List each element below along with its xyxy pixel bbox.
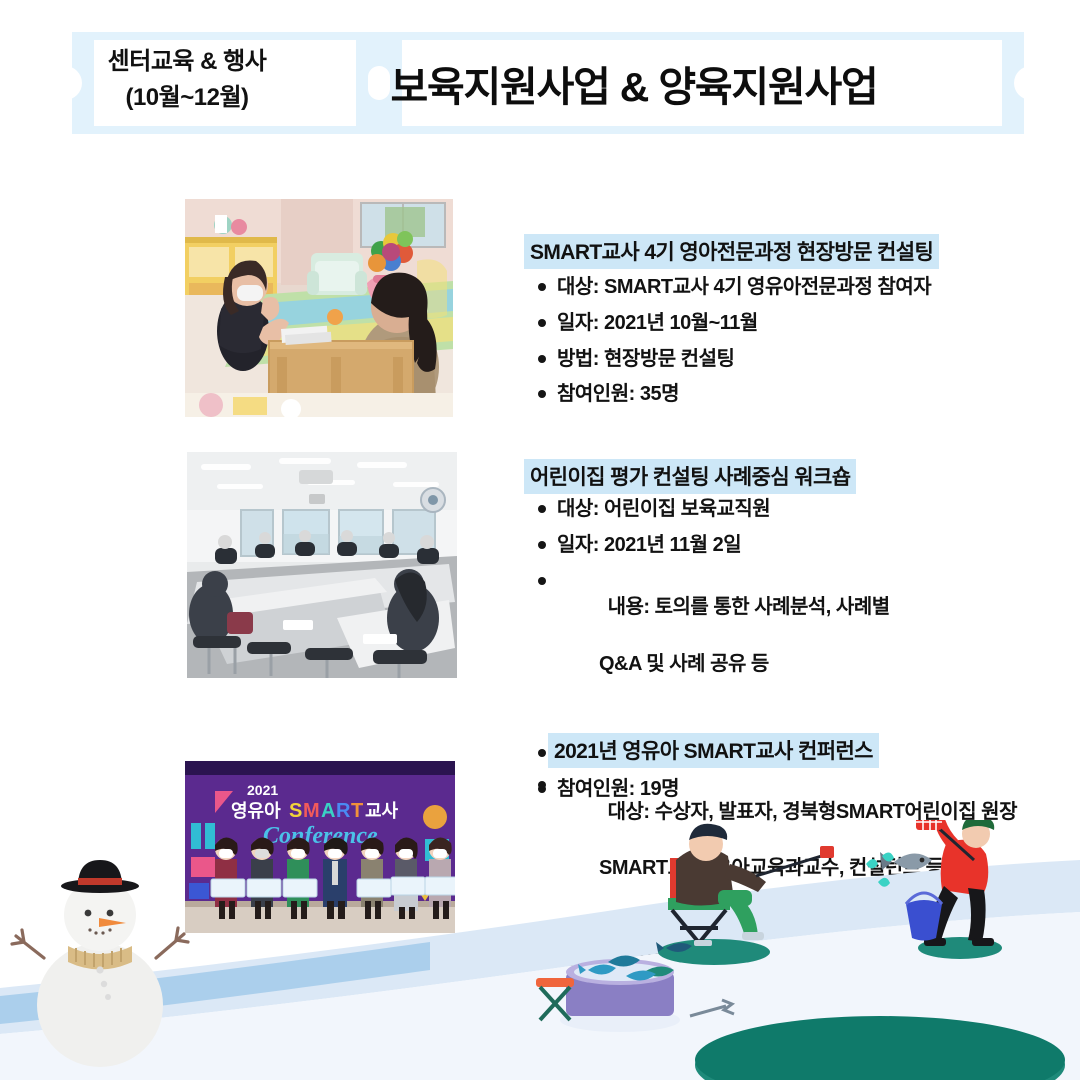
svg-text:S: S xyxy=(289,800,302,822)
bullet-item: 대상: 수상자, 발표자, 경북형SMART어린이집 원장 SMART교사, 유… xyxy=(538,772,978,936)
bullet-dot-icon xyxy=(538,577,546,585)
bullet-dot-icon xyxy=(538,1025,546,1033)
bullet-item: 방법: 대면 및 비대면 xyxy=(538,981,978,1008)
section-photo-1 xyxy=(185,199,453,417)
snowman-button xyxy=(96,966,103,973)
header-tab-text: 센터교육 & 행사 (10월~12월) xyxy=(62,44,312,116)
bullet-label: 방법: 현장방문 컨설팅 xyxy=(557,346,734,373)
bullet-label: 내용: 토의를 통한 사례분석, 사례별 Q&A 및 사례 공유 등 xyxy=(557,568,890,732)
svg-text:A: A xyxy=(321,800,335,822)
page-title: 보육지원사업 & 양육지원사업 xyxy=(340,53,928,113)
bullet-dot-icon xyxy=(538,954,546,962)
header-tab-line2: (10월~12월) xyxy=(62,80,312,116)
photo-2-illustration xyxy=(187,452,457,678)
bullet-label: 방법: 대면 및 비대면 xyxy=(557,981,722,1008)
bullet-dot-icon xyxy=(538,355,546,363)
header-tab-line1: 센터교육 & 행사 xyxy=(108,48,267,75)
svg-text:Conference: Conference xyxy=(263,823,378,849)
section-title-3: 2021년 영유아 SMART교사 컨퍼런스 xyxy=(548,733,879,768)
svg-text:M: M xyxy=(303,800,320,822)
bullet-dot-icon xyxy=(538,505,546,513)
snowman-arm-right xyxy=(156,928,188,958)
bullet-dot-icon xyxy=(538,781,546,789)
banner-notch-right xyxy=(1014,66,1034,100)
snowman-eye-left xyxy=(85,910,92,917)
snowman-carrot-nose-icon xyxy=(99,918,126,927)
bullet-item: 일자: 2021년 11월 2일 xyxy=(538,532,958,559)
svg-text:영유아: 영유아 xyxy=(231,801,281,821)
bullet-label: 참여인원: 35명 xyxy=(557,381,679,408)
photo-3-illustration: 2021 영유아 S M A R T 교사 Conference xyxy=(185,761,455,933)
snowman-smile xyxy=(88,928,111,934)
snowman-arm-left xyxy=(12,930,44,958)
bullet-item: 참여인원: 168명 xyxy=(538,1016,978,1043)
bullet-label-continuation: SMART교사, 유아교육과교수, 컨설턴트 등 xyxy=(557,855,1017,882)
section-photo-2 xyxy=(187,452,457,678)
bullet-dot-icon xyxy=(538,990,546,998)
bullet-label: 대상: 어린이집 보육교직원 xyxy=(557,496,770,523)
section-bullets-3: 대상: 수상자, 발표자, 경북형SMART어린이집 원장 SMART교사, 유… xyxy=(538,772,978,1052)
section-title-1: SMART교사 4기 영아전문과정 현장방문 컨설팅 xyxy=(524,234,939,269)
bullet-label: 일자: 2021년 11월 2일 xyxy=(557,532,741,559)
infographic-page: 센터교육 & 행사 (10월~12월) 보육지원사업 & 양육지원사업 xyxy=(0,0,1080,1080)
bullet-dot-icon xyxy=(538,283,546,291)
bullet-label: 대상: SMART교사 4기 영유아전문과정 참여자 xyxy=(557,274,931,301)
snowman-head xyxy=(64,879,136,951)
bullet-dot-icon xyxy=(538,319,546,327)
svg-text:R: R xyxy=(336,800,351,822)
snowman-button xyxy=(101,981,107,987)
snowman-eye-right xyxy=(107,910,114,917)
svg-text:교사: 교사 xyxy=(365,801,399,821)
bullet-label-line1: 내용: 토의를 통한 사례분석, 사례별 xyxy=(608,596,890,618)
bullet-item: 대상: 어린이집 보육교직원 xyxy=(538,496,958,523)
snowman-body xyxy=(37,943,163,1067)
section-photo-3: 2021 영유아 S M A R T 교사 Conference xyxy=(185,761,455,933)
svg-text:T: T xyxy=(351,800,363,822)
bullet-item: 방법: 현장방문 컨설팅 xyxy=(538,346,958,373)
bullet-dot-icon xyxy=(538,749,546,757)
snowman-illustration xyxy=(12,860,188,1067)
bullet-item: 일자: 2021년 10월~11월 xyxy=(538,310,958,337)
bullet-item: 일자: 2021년 12월 11일 xyxy=(538,945,978,972)
snowman-button xyxy=(105,994,111,1000)
bullet-label: 대상: 수상자, 발표자, 경북형SMART어린이집 원장 SMART교사, 유… xyxy=(557,772,1017,936)
bullet-item: 대상: SMART교사 4기 영유아전문과정 참여자 xyxy=(538,274,958,301)
bullet-dot-icon xyxy=(538,390,546,398)
bullet-item: 내용: 토의를 통한 사례분석, 사례별 Q&A 및 사례 공유 등 xyxy=(538,568,958,732)
bullet-dot-icon xyxy=(538,541,546,549)
section-title-2: 어린이집 평가 컨설팅 사례중심 워크숍 xyxy=(524,459,856,494)
photo-1-illustration xyxy=(185,199,453,417)
section-bullets-1: 대상: SMART교사 4기 영유아전문과정 참여자 일자: 2021년 10월… xyxy=(538,274,958,417)
svg-text:2021: 2021 xyxy=(247,782,278,798)
bullet-label: 일자: 2021년 10월~11월 xyxy=(557,310,758,337)
bullet-label: 참여인원: 168명 xyxy=(557,1016,690,1043)
snowman-scarf-icon xyxy=(68,946,132,970)
snow-ridge-left xyxy=(0,942,430,1024)
bullet-label-continuation: Q&A 및 사례 공유 등 xyxy=(557,651,890,678)
snowman-hat-icon xyxy=(61,860,139,893)
bullet-label-line1: 대상: 수상자, 발표자, 경북형SMART어린이집 원장 xyxy=(608,801,1017,823)
bullet-label: 일자: 2021년 12월 11일 xyxy=(557,945,752,972)
bullet-item: 참여인원: 35명 xyxy=(538,381,958,408)
